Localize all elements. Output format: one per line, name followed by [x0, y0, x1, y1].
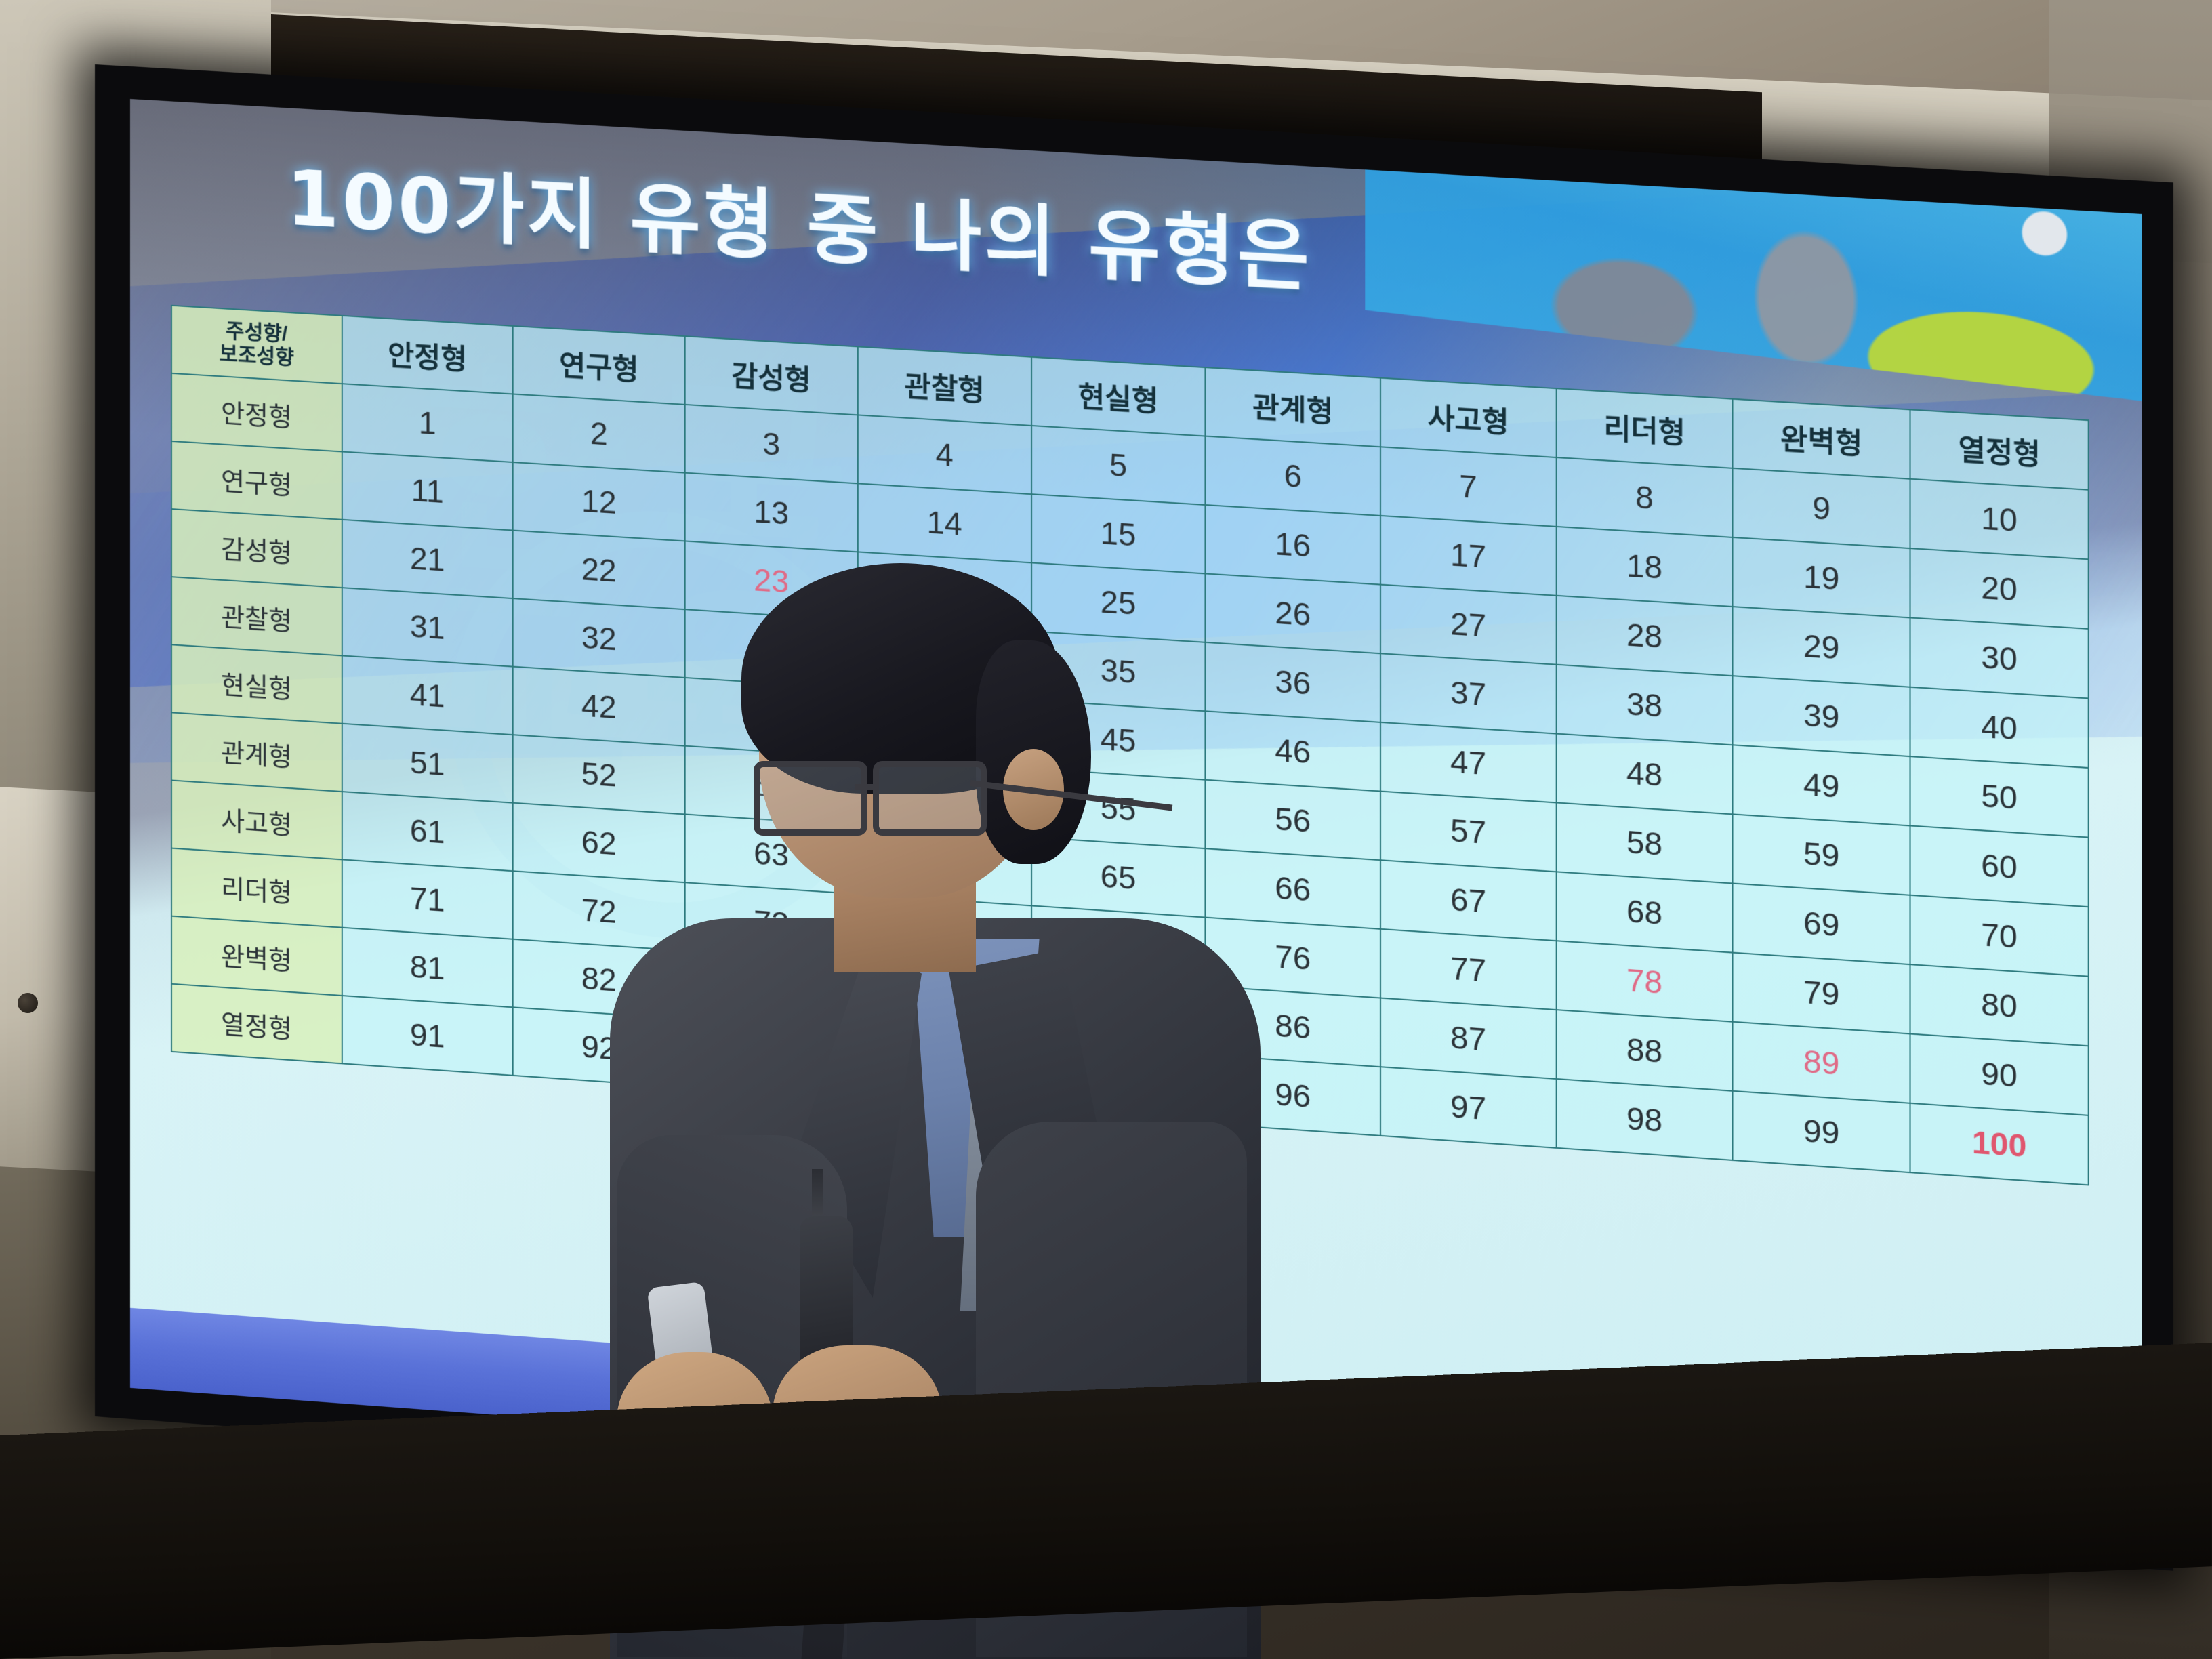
column-header-2: 연구형	[513, 326, 685, 405]
matrix-cell: 90	[1910, 1033, 2089, 1115]
matrix-cell: 16	[1206, 505, 1380, 585]
column-header-7: 사고형	[1380, 378, 1556, 457]
matrix-cell: 5	[1031, 426, 1206, 505]
matrix-cell: 1	[342, 384, 514, 462]
matrix-cell: 89	[1733, 1022, 1910, 1103]
row-header-3: 감성형	[171, 509, 342, 588]
matrix-cell: 49	[1733, 745, 1910, 825]
row-header-10: 열정형	[171, 984, 342, 1064]
matrix-cell: 80	[1910, 964, 2089, 1046]
matrix-cell: 78	[1556, 941, 1733, 1022]
row-header-6: 관계형	[171, 712, 342, 792]
matrix-cell: 47	[1380, 722, 1556, 803]
matrix-cell: 97	[1380, 1067, 1556, 1148]
row-header-4: 관찰형	[171, 577, 342, 655]
presenter-glasses	[754, 761, 977, 823]
matrix-cell: 4	[858, 415, 1031, 494]
matrix-cell: 37	[1380, 653, 1556, 733]
matrix-cell: 7	[1380, 447, 1556, 527]
matrix-cell: 41	[342, 655, 514, 735]
column-header-4: 관찰형	[858, 346, 1031, 426]
matrix-cell: 59	[1733, 814, 1910, 895]
matrix-cell: 9	[1733, 468, 1910, 548]
matrix-cell: 69	[1733, 884, 1910, 965]
row-header-2: 연구형	[171, 441, 342, 520]
matrix-cell: 13	[685, 473, 858, 552]
matrix-cell: 18	[1556, 527, 1733, 607]
matrix-cell: 38	[1556, 665, 1733, 745]
matrix-cell: 77	[1380, 929, 1556, 1010]
column-header-10: 열정형	[1910, 409, 2089, 489]
matrix-cell: 31	[342, 588, 514, 667]
matrix-cell: 60	[1910, 825, 2089, 907]
column-header-3: 감성형	[685, 336, 858, 415]
matrix-cell: 11	[342, 451, 514, 530]
matrix-cell: 19	[1733, 537, 1910, 617]
matrix-cell: 67	[1380, 860, 1556, 941]
row-header-7: 사고형	[171, 780, 342, 859]
matrix-cell: 6	[1206, 436, 1380, 516]
column-header-9: 완벽형	[1733, 399, 1910, 479]
matrix-cell: 2	[513, 394, 685, 472]
column-header-5: 현실형	[1031, 357, 1206, 436]
matrix-cell: 17	[1380, 516, 1556, 596]
matrix-cell: 8	[1556, 457, 1733, 537]
matrix-cell: 10	[1910, 479, 2089, 560]
table-corner-header: 주성향/보조성향	[171, 306, 342, 384]
matrix-cell: 61	[342, 792, 514, 871]
matrix-cell: 81	[342, 928, 514, 1008]
matrix-cell: 100	[1910, 1103, 2089, 1185]
matrix-cell: 48	[1556, 734, 1733, 815]
matrix-cell: 39	[1733, 676, 1910, 756]
matrix-cell: 21	[342, 520, 514, 598]
matrix-cell: 29	[1733, 607, 1910, 687]
matrix-cell: 51	[342, 724, 514, 803]
column-header-6: 관계형	[1206, 367, 1380, 447]
matrix-cell: 99	[1733, 1091, 1910, 1172]
matrix-cell: 15	[1031, 494, 1206, 573]
matrix-cell: 57	[1380, 792, 1556, 872]
matrix-cell: 70	[1910, 895, 2089, 977]
glasses-lens-left	[754, 761, 867, 836]
matrix-cell: 30	[1910, 617, 2089, 698]
matrix-cell: 87	[1380, 998, 1556, 1079]
matrix-cell: 14	[858, 483, 1031, 562]
matrix-cell: 3	[685, 405, 858, 483]
lecture-room-scene: 100가지 유형 중 나의 유형은 한국교육 주성향/보조성향 안정형연구형감성…	[0, 0, 2212, 1659]
matrix-cell: 12	[513, 462, 685, 541]
matrix-cell: 68	[1556, 872, 1733, 952]
matrix-cell: 50	[1910, 756, 2089, 837]
matrix-cell: 27	[1380, 585, 1556, 665]
row-header-1: 안정형	[171, 373, 342, 452]
matrix-cell: 88	[1556, 1010, 1733, 1091]
row-header-8: 리더형	[171, 848, 342, 928]
matrix-cell: 40	[1910, 687, 2089, 768]
row-header-9: 완벽형	[171, 916, 342, 996]
matrix-cell: 71	[342, 859, 514, 939]
matrix-cell: 58	[1556, 802, 1733, 883]
matrix-cell: 28	[1556, 596, 1733, 676]
column-header-8: 리더형	[1556, 388, 1733, 468]
matrix-cell: 20	[1910, 548, 2089, 629]
matrix-cell: 79	[1733, 953, 1910, 1034]
row-header-5: 현실형	[171, 644, 342, 723]
glasses-lens-right	[873, 761, 987, 836]
column-header-1: 안정형	[342, 316, 514, 394]
wall-fixture-icon	[18, 993, 38, 1013]
matrix-cell: 91	[342, 996, 514, 1076]
matrix-cell: 98	[1556, 1079, 1733, 1160]
